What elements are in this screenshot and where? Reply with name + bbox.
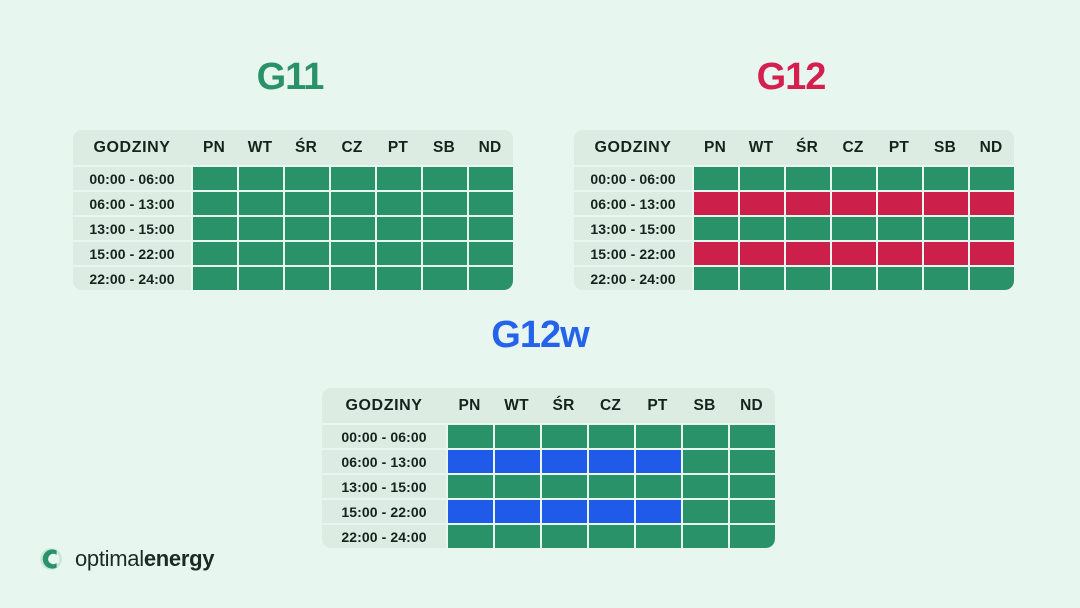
hour-range-label: 06:00 - 13:00 <box>322 448 446 473</box>
tariff-zone-cell-green <box>738 215 784 240</box>
brand-name-light: optimal <box>75 546 144 571</box>
tariff-zone-cell-green <box>728 523 775 548</box>
column-header-pn: PN <box>446 388 493 423</box>
hour-range-label: 00:00 - 06:00 <box>73 165 191 190</box>
tariff-zone-cell-green <box>329 240 375 265</box>
column-header-sb: SB <box>922 130 968 165</box>
tariff-zone-cell-green <box>922 165 968 190</box>
tariff-zone-cell-green <box>283 215 329 240</box>
hour-range-label: 15:00 - 22:00 <box>574 240 692 265</box>
column-header-hours: GODZINY <box>322 388 446 423</box>
tariff-zone-cell-green <box>421 215 467 240</box>
tariff-zone-cell-green <box>922 215 968 240</box>
tariff-zone-cell-green <box>375 215 421 240</box>
tariff-zone-cell-green <box>681 498 728 523</box>
table-row: 00:00 - 06:00 <box>73 165 513 190</box>
column-header-nd: ND <box>728 388 775 423</box>
brand-logo: optimalenergy <box>38 546 214 572</box>
tariff-zone-cell-green <box>587 523 634 548</box>
tariff-zone-cell-green <box>283 265 329 290</box>
column-header-pn: PN <box>191 130 237 165</box>
tariff-zone-cell-green <box>283 240 329 265</box>
tariff-zone-cell-blue <box>446 448 493 473</box>
tariff-zone-cell-green <box>493 523 540 548</box>
infographic-canvas: G11GODZINYPNWTŚRCZPTSBND00:00 - 06:0006:… <box>0 0 1080 608</box>
tariff-zone-cell-green <box>493 423 540 448</box>
tariff-zone-cell-red <box>738 190 784 215</box>
hour-range-label: 13:00 - 15:00 <box>322 473 446 498</box>
tariff-zone-cell-green <box>467 165 513 190</box>
column-header-śr: ŚR <box>283 130 329 165</box>
tariff-zone-cell-green <box>876 265 922 290</box>
tariff-title-g11: G11 <box>73 58 507 96</box>
tariff-zone-cell-green <box>968 165 1014 190</box>
tariff-zone-cell-green <box>830 165 876 190</box>
tariff-zone-cell-green <box>467 240 513 265</box>
tariff-zone-cell-green <box>587 473 634 498</box>
tariff-zone-cell-green <box>728 473 775 498</box>
optimalenergy-circle-mark-icon <box>38 546 64 572</box>
tariff-zone-cell-red <box>922 190 968 215</box>
tariff-zone-cell-green <box>681 523 728 548</box>
column-header-hours: GODZINY <box>574 130 692 165</box>
tariff-title-g12: G12 <box>574 58 1008 96</box>
column-header-cz: CZ <box>587 388 634 423</box>
column-header-pt: PT <box>634 388 681 423</box>
tariff-zone-cell-blue <box>540 448 587 473</box>
hour-range-label: 13:00 - 15:00 <box>73 215 191 240</box>
column-header-sb: SB <box>681 388 728 423</box>
tariff-zone-cell-green <box>540 473 587 498</box>
tariff-zone-cell-green <box>540 423 587 448</box>
tariff-zone-cell-green <box>191 215 237 240</box>
tariff-zone-cell-green <box>283 190 329 215</box>
tariff-title-g12w: G12w <box>322 316 758 354</box>
column-header-wt: WT <box>738 130 784 165</box>
tariff-zone-cell-green <box>784 265 830 290</box>
tariff-zone-cell-green <box>467 215 513 240</box>
tariff-zone-cell-green <box>421 190 467 215</box>
tariff-zone-cell-red <box>784 190 830 215</box>
column-header-cz: CZ <box>830 130 876 165</box>
brand-wordmark: optimalenergy <box>75 546 214 572</box>
table-row: 22:00 - 24:00 <box>574 265 1014 290</box>
tariff-schedule-table-g11: GODZINYPNWTŚRCZPTSBND00:00 - 06:0006:00 … <box>73 130 513 290</box>
tariff-zone-cell-green <box>283 165 329 190</box>
tariff-zone-cell-green <box>784 215 830 240</box>
tariff-zone-cell-green <box>692 165 738 190</box>
tariff-zone-cell-green <box>329 265 375 290</box>
table-row: 06:00 - 13:00 <box>574 190 1014 215</box>
column-header-sb: SB <box>421 130 467 165</box>
table-row: 00:00 - 06:00 <box>574 165 1014 190</box>
tariff-zone-cell-green <box>738 165 784 190</box>
table-row: 00:00 - 06:00 <box>322 423 775 448</box>
table-row: 06:00 - 13:00 <box>73 190 513 215</box>
table-row: 13:00 - 15:00 <box>574 215 1014 240</box>
tariff-zone-cell-green <box>329 215 375 240</box>
tariff-schedule-table-g12: GODZINYPNWTŚRCZPTSBND00:00 - 06:0006:00 … <box>574 130 1014 290</box>
hour-range-label: 13:00 - 15:00 <box>574 215 692 240</box>
column-header-nd: ND <box>467 130 513 165</box>
tariff-zone-cell-green <box>191 265 237 290</box>
table-row: 13:00 - 15:00 <box>322 473 775 498</box>
tariff-zone-cell-green <box>237 190 283 215</box>
tariff-zone-cell-green <box>467 190 513 215</box>
tariff-zone-cell-green <box>375 190 421 215</box>
hour-range-label: 22:00 - 24:00 <box>73 265 191 290</box>
tariff-zone-cell-red <box>876 240 922 265</box>
column-header-nd: ND <box>968 130 1014 165</box>
brand-name-bold: energy <box>144 546 214 571</box>
tariff-zone-cell-red <box>876 190 922 215</box>
tariff-zone-cell-red <box>968 240 1014 265</box>
tariff-zone-cell-red <box>830 190 876 215</box>
tariff-zone-cell-green <box>692 215 738 240</box>
tariff-zone-cell-green <box>830 265 876 290</box>
tariff-zone-cell-red <box>692 190 738 215</box>
tariff-zone-cell-green <box>421 165 467 190</box>
hour-range-label: 06:00 - 13:00 <box>73 190 191 215</box>
tariff-zone-cell-green <box>446 523 493 548</box>
hour-range-label: 00:00 - 06:00 <box>574 165 692 190</box>
tariff-zone-cell-green <box>681 423 728 448</box>
tariff-zone-cell-green <box>692 265 738 290</box>
tariff-zone-cell-blue <box>493 448 540 473</box>
tariff-zone-cell-blue <box>634 498 681 523</box>
tariff-zone-cell-green <box>681 473 728 498</box>
column-header-śr: ŚR <box>784 130 830 165</box>
tariff-table-card-g12: GODZINYPNWTŚRCZPTSBND00:00 - 06:0006:00 … <box>574 130 1014 290</box>
table-row: 06:00 - 13:00 <box>322 448 775 473</box>
column-header-hours: GODZINY <box>73 130 191 165</box>
tariff-zone-cell-green <box>467 265 513 290</box>
tariff-zone-cell-green <box>421 265 467 290</box>
tariff-zone-cell-green <box>728 423 775 448</box>
tariff-zone-cell-blue <box>587 448 634 473</box>
tariff-zone-cell-green <box>968 265 1014 290</box>
tariff-zone-cell-red <box>830 240 876 265</box>
table-header-row: GODZINYPNWTŚRCZPTSBND <box>73 130 513 165</box>
tariff-zone-cell-green <box>191 240 237 265</box>
column-header-śr: ŚR <box>540 388 587 423</box>
hour-range-label: 00:00 - 06:00 <box>322 423 446 448</box>
tariff-schedule-table-g12w: GODZINYPNWTŚRCZPTSBND00:00 - 06:0006:00 … <box>322 388 775 548</box>
tariff-zone-cell-green <box>237 215 283 240</box>
tariff-zone-cell-red <box>784 240 830 265</box>
tariff-zone-cell-green <box>728 498 775 523</box>
hour-range-label: 06:00 - 13:00 <box>574 190 692 215</box>
column-header-wt: WT <box>237 130 283 165</box>
tariff-zone-cell-red <box>692 240 738 265</box>
tariff-zone-cell-green <box>968 215 1014 240</box>
hour-range-label: 22:00 - 24:00 <box>574 265 692 290</box>
tariff-zone-cell-red <box>968 190 1014 215</box>
tariff-zone-cell-green <box>728 448 775 473</box>
tariff-zone-cell-green <box>329 165 375 190</box>
tariff-zone-cell-green <box>446 473 493 498</box>
table-header-row: GODZINYPNWTŚRCZPTSBND <box>574 130 1014 165</box>
tariff-zone-cell-blue <box>540 498 587 523</box>
tariff-zone-cell-green <box>634 523 681 548</box>
tariff-zone-cell-green <box>784 165 830 190</box>
tariff-zone-cell-blue <box>587 498 634 523</box>
tariff-zone-cell-green <box>375 240 421 265</box>
hour-range-label: 15:00 - 22:00 <box>322 498 446 523</box>
tariff-zone-cell-green <box>191 165 237 190</box>
tariff-zone-cell-green <box>446 423 493 448</box>
tariff-zone-cell-green <box>375 265 421 290</box>
table-row: 13:00 - 15:00 <box>73 215 513 240</box>
tariff-zone-cell-green <box>237 265 283 290</box>
tariff-zone-cell-green <box>876 165 922 190</box>
tariff-table-card-g12w: GODZINYPNWTŚRCZPTSBND00:00 - 06:0006:00 … <box>322 388 775 548</box>
tariff-zone-cell-green <box>493 473 540 498</box>
tariff-zone-cell-red <box>922 240 968 265</box>
tariff-zone-cell-green <box>681 448 728 473</box>
tariff-zone-cell-green <box>375 165 421 190</box>
table-row: 15:00 - 22:00 <box>574 240 1014 265</box>
tariff-zone-cell-green <box>587 423 634 448</box>
tariff-zone-cell-blue <box>634 448 681 473</box>
table-row: 22:00 - 24:00 <box>73 265 513 290</box>
tariff-zone-cell-green <box>830 215 876 240</box>
tariff-zone-cell-green <box>421 240 467 265</box>
hour-range-label: 15:00 - 22:00 <box>73 240 191 265</box>
tariff-zone-cell-green <box>738 265 784 290</box>
tariff-zone-cell-green <box>191 190 237 215</box>
tariff-zone-cell-green <box>540 523 587 548</box>
tariff-table-card-g11: GODZINYPNWTŚRCZPTSBND00:00 - 06:0006:00 … <box>73 130 513 290</box>
tariff-zone-cell-green <box>237 240 283 265</box>
column-header-pn: PN <box>692 130 738 165</box>
table-header-row: GODZINYPNWTŚRCZPTSBND <box>322 388 775 423</box>
tariff-zone-cell-green <box>876 215 922 240</box>
column-header-cz: CZ <box>329 130 375 165</box>
table-row: 15:00 - 22:00 <box>322 498 775 523</box>
tariff-zone-cell-green <box>237 165 283 190</box>
column-header-pt: PT <box>375 130 421 165</box>
tariff-zone-cell-blue <box>446 498 493 523</box>
tariff-zone-cell-green <box>634 423 681 448</box>
column-header-pt: PT <box>876 130 922 165</box>
table-row: 15:00 - 22:00 <box>73 240 513 265</box>
column-header-wt: WT <box>493 388 540 423</box>
tariff-zone-cell-green <box>922 265 968 290</box>
table-row: 22:00 - 24:00 <box>322 523 775 548</box>
hour-range-label: 22:00 - 24:00 <box>322 523 446 548</box>
tariff-zone-cell-green <box>329 190 375 215</box>
tariff-zone-cell-red <box>738 240 784 265</box>
tariff-zone-cell-green <box>634 473 681 498</box>
tariff-zone-cell-blue <box>493 498 540 523</box>
